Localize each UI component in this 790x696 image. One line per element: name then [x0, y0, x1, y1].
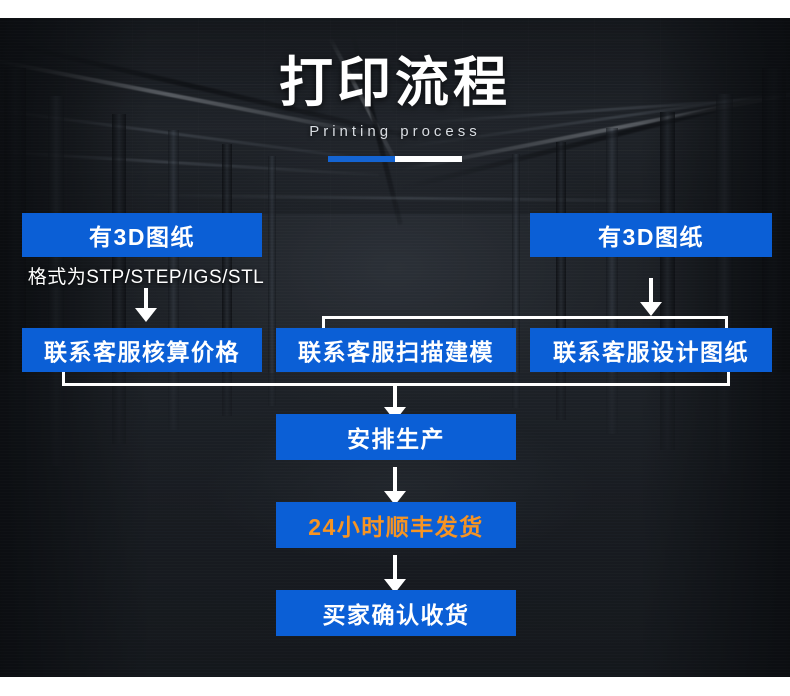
flow-box-arrange-production[interactable]: 安排生产	[276, 414, 516, 460]
page-title: 打印流程	[0, 55, 790, 112]
flow-box-contact-price[interactable]: 联系客服核算价格	[22, 328, 262, 372]
flow-box-contact-design[interactable]: 联系客服设计图纸	[530, 328, 772, 372]
flow-box-has-3d-right[interactable]: 有3D图纸	[530, 213, 772, 257]
flow-box-label: 有3D图纸	[89, 218, 195, 252]
flow-box-label: 联系客服扫描建模	[298, 333, 494, 367]
bracket-row2-merge	[62, 372, 730, 386]
flow-box-label: 买家确认收货	[323, 596, 470, 630]
flow-box-label: 安排生产	[347, 420, 445, 454]
connector-line-right-down	[649, 278, 653, 304]
flow-box-ship-24h[interactable]: 24小时顺丰发货	[276, 502, 516, 548]
flow-box-contact-scan[interactable]: 联系客服扫描建模	[276, 328, 516, 372]
connector-line-to-production	[393, 385, 397, 409]
flow-box-label: 24小时顺丰发货	[308, 508, 484, 542]
title-rule-blue-segment	[328, 156, 395, 162]
page-subtitle: Printing process	[0, 123, 790, 140]
flow-box-buyer-confirm[interactable]: 买家确认收货	[276, 590, 516, 636]
flow-box-label: 联系客服核算价格	[44, 333, 240, 367]
flow-box-label: 联系客服设计图纸	[553, 333, 749, 367]
flow-box-has-3d-left[interactable]: 有3D图纸	[22, 213, 262, 257]
title-rule	[328, 156, 462, 162]
page-header: 打印流程 Printing process	[0, 55, 790, 162]
flow-note-file-formats: 格式为STP/STEP/IGS/STL	[26, 262, 266, 289]
arrow-down-left-icon	[135, 308, 157, 322]
connector-line-left-down	[144, 288, 148, 310]
arrow-down-right-icon	[640, 302, 662, 316]
connector-line-to-shipping	[393, 467, 397, 493]
title-rule-white-segment	[395, 156, 462, 162]
flow-box-label: 有3D图纸	[598, 218, 704, 252]
connector-line-to-confirm	[393, 555, 397, 581]
flowchart-page: 打印流程 Printing process 有3D图纸 格式为STP/STEP/…	[0, 0, 790, 696]
